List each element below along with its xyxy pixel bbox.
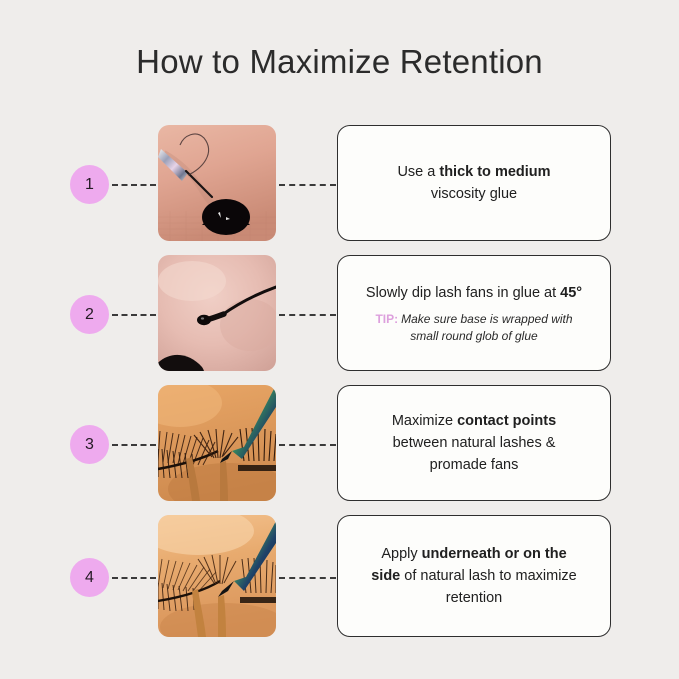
connector-dashed-line-left bbox=[112, 314, 156, 316]
step-card-1: Use a thick to medium viscosity glue bbox=[337, 125, 611, 241]
tip-block: TIP:Make sure base is wrapped with small… bbox=[375, 311, 572, 345]
card-text-bold: 45° bbox=[560, 285, 582, 301]
step-card-4: Apply underneath or on the side of natur… bbox=[337, 515, 611, 637]
card-text-bold: underneath or on the bbox=[422, 546, 567, 562]
step-row: 3 bbox=[0, 385, 679, 501]
step-row: 1 bbox=[0, 125, 679, 241]
card-text-plain-tail: of natural lash to maximize bbox=[400, 568, 577, 584]
lash-underneath-placement-photo bbox=[158, 515, 276, 637]
card-text-line: side of natural lash to maximize bbox=[371, 565, 577, 587]
card-text-plain: Apply bbox=[381, 546, 421, 562]
card-text-plain: Maximize bbox=[392, 413, 457, 429]
step-number-badge-3: 3 bbox=[70, 425, 109, 464]
infographic-page: How to Maximize Retention 1 bbox=[0, 0, 679, 679]
step-number-label: 1 bbox=[85, 176, 94, 194]
card-text-line: retention bbox=[446, 587, 502, 609]
tip-text-line-2: small round glob of glue bbox=[410, 329, 537, 343]
connector-dashed-line-left bbox=[112, 577, 156, 579]
card-text-line: Apply underneath or on the bbox=[381, 543, 566, 565]
lash-fan-dipped-in-glue-photo bbox=[158, 255, 276, 371]
step-number-badge-2: 2 bbox=[70, 295, 109, 334]
connector-dashed-line-left bbox=[112, 184, 156, 186]
connector-dashed-line-left bbox=[112, 444, 156, 446]
tip-text-line-1: Make sure base is wrapped with bbox=[401, 312, 572, 326]
card-text-plain: Use a bbox=[397, 164, 439, 180]
card-text-line: Use a thick to medium bbox=[397, 161, 550, 183]
connector-dashed-line-right bbox=[279, 444, 336, 446]
step-number-badge-4: 4 bbox=[70, 558, 109, 597]
step-card-3: Maximize contact points between natural … bbox=[337, 385, 611, 501]
step-card-2: Slowly dip lash fans in glue at 45° TIP:… bbox=[337, 255, 611, 371]
card-text-bold: thick to medium bbox=[439, 164, 550, 180]
card-text-bold: side bbox=[371, 568, 400, 584]
step-row: 4 bbox=[0, 515, 679, 637]
step-number-label: 3 bbox=[85, 436, 94, 454]
card-text-line: viscosity glue bbox=[431, 183, 517, 205]
step-row: 2 bbox=[0, 255, 679, 371]
step-number-label: 2 bbox=[85, 306, 94, 324]
tip-label: TIP: bbox=[375, 312, 398, 326]
card-text-line: Maximize contact points bbox=[392, 410, 556, 432]
card-text-plain: viscosity glue bbox=[431, 186, 517, 202]
card-text-plain: retention bbox=[446, 590, 502, 606]
connector-dashed-line-right bbox=[279, 577, 336, 579]
step-number-label: 4 bbox=[85, 569, 94, 587]
lash-contact-points-photo bbox=[158, 385, 276, 501]
card-text-line: promade fans bbox=[430, 454, 519, 476]
card-text-plain: Slowly dip lash fans in glue at bbox=[366, 285, 560, 301]
card-text-plain: promade fans bbox=[430, 457, 519, 473]
card-text-bold: contact points bbox=[457, 413, 556, 429]
card-text-line: between natural lashes & bbox=[393, 432, 556, 454]
lash-tweezers-with-glue-drop-photo bbox=[158, 125, 276, 241]
card-text-plain: between natural lashes & bbox=[393, 435, 556, 451]
step-number-badge-1: 1 bbox=[70, 165, 109, 204]
connector-dashed-line-right bbox=[279, 314, 336, 316]
connector-dashed-line-right bbox=[279, 184, 336, 186]
page-title: How to Maximize Retention bbox=[0, 43, 679, 81]
card-text-line: Slowly dip lash fans in glue at 45° bbox=[366, 282, 582, 304]
